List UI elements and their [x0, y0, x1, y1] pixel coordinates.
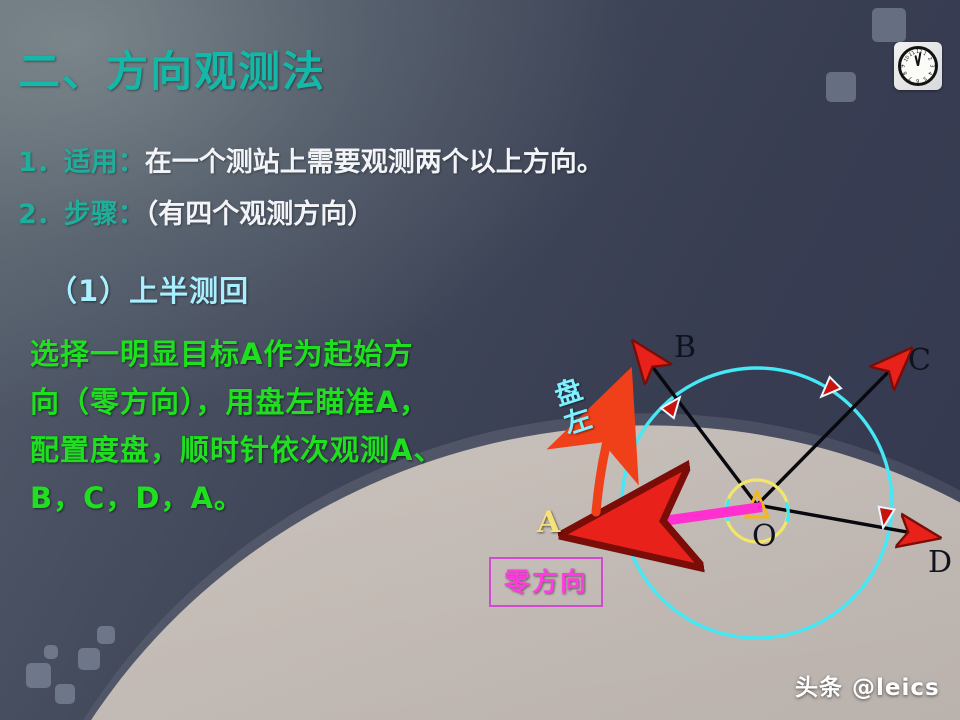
ray-d	[757, 505, 935, 537]
rotation-direction-arrow	[596, 392, 622, 512]
watermark: 头条 @leics	[795, 668, 940, 702]
ray-c	[757, 352, 908, 505]
direction-observation-diagram	[0, 0, 960, 720]
zero-direction-arrow	[578, 507, 762, 533]
slide-root: 121234567891011 二、方向观测法 1．适用：在一个测站上需要观测两…	[0, 0, 960, 720]
label-a: A	[537, 505, 560, 540]
direction-marker-c	[816, 377, 841, 402]
label-c: C	[908, 343, 931, 378]
label-d: D	[928, 545, 952, 580]
zero-direction-badge: 零方向	[489, 557, 603, 607]
label-b: B	[674, 330, 696, 365]
label-o: O	[752, 519, 777, 554]
